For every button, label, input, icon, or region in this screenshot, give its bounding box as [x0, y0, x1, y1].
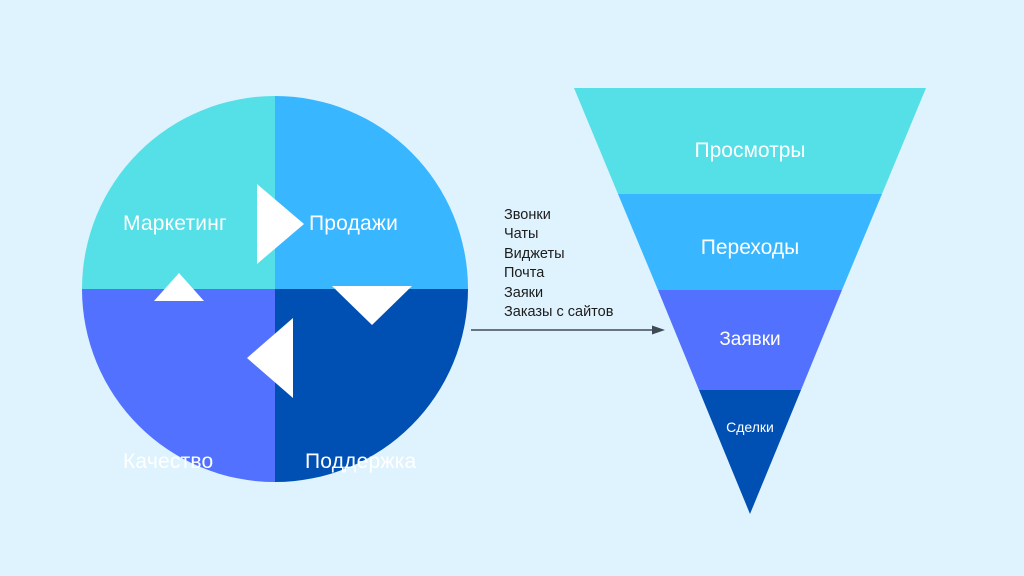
- quadrant-marketing[interactable]: [82, 96, 275, 289]
- funnel-label-clicks: Переходы: [701, 236, 800, 260]
- quadrant-label-support: Поддержка: [305, 450, 416, 474]
- quadrant-label-quality: Качество: [123, 450, 213, 474]
- funnel-stage-deals[interactable]: [699, 390, 801, 514]
- quadrant-label-sales: Продажи: [309, 212, 398, 236]
- sales-funnel: Просмотры Переходы Заявки Сделки: [574, 88, 926, 514]
- quadrant-sales[interactable]: [275, 96, 468, 289]
- funnel-label-deals: Сделки: [726, 419, 774, 435]
- funnel-label-leads: Заявки: [719, 329, 780, 351]
- funnel-label-views: Просмотры: [695, 139, 806, 163]
- business-cycle-circle: Маркетинг Продажи Качество Поддержка: [82, 96, 468, 482]
- quadrant-label-marketing: Маркетинг: [123, 212, 227, 236]
- slide-canvas: Маркетинг Продажи Качество Поддержка Зво…: [0, 0, 1024, 576]
